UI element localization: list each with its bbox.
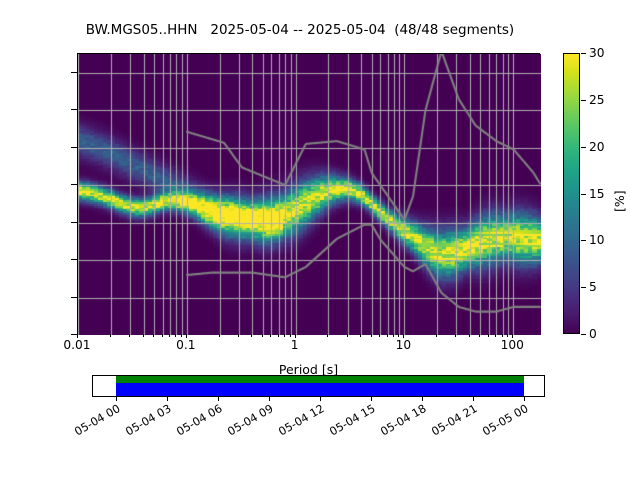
x-axis-tick-minor [502, 334, 503, 337]
x-axis-tick-minor [488, 334, 489, 337]
x-axis-tick-minor [371, 334, 372, 337]
x-axis-tick-minor [162, 334, 163, 337]
timeline-tick-label: 05-04 03 [116, 402, 173, 442]
ppsd-figure: BW.MGS05..HHN 2025-05-04 -- 2025-05-04 (… [0, 0, 640, 480]
timeline-tick [320, 397, 321, 401]
timeline-tick-label: 05-04 21 [423, 402, 480, 442]
colorbar-gradient [564, 54, 579, 333]
timeline-tick-label: 05-04 00 [65, 402, 122, 442]
colorbar-tick [581, 194, 586, 195]
x-axis-tick-minor [507, 334, 508, 337]
colorbar-tick [581, 53, 586, 54]
x-axis-tick-minor [181, 334, 182, 337]
x-axis-tick-minor [327, 334, 328, 337]
y-axis-tick [71, 297, 77, 298]
x-axis-tick-minor [262, 334, 263, 337]
y-axis-tick [71, 222, 77, 223]
timeline-bar-coverage [116, 376, 524, 383]
x-axis-tick-minor [393, 334, 394, 337]
colorbar-label: [%] [612, 190, 627, 212]
noise-model-curves [78, 54, 541, 335]
x-axis-tick-minor [110, 334, 111, 337]
x-axis-tick-minor [469, 334, 470, 337]
colorbar-tick-label: 10 [589, 233, 605, 247]
y-axis-tick [71, 259, 77, 260]
x-axis-tick-minor [387, 334, 388, 337]
x-axis-tick-minor [495, 334, 496, 337]
x-axis-tick-minor [347, 334, 348, 337]
colorbar-tick [581, 287, 586, 288]
colorbar[interactable] [563, 53, 580, 334]
y-axis-tick [71, 147, 77, 148]
timeline-tick-label: 05-05 00 [474, 402, 531, 442]
colorbar-tick-label: 30 [589, 46, 605, 60]
colorbar-tick-label: 15 [589, 187, 605, 201]
x-axis-tick-minor [360, 334, 361, 337]
x-axis-tick-minor [455, 334, 456, 337]
x-axis-tick-label: 1 [291, 338, 299, 352]
x-axis-tick-minor [278, 334, 279, 337]
timeline-tick [116, 397, 117, 401]
x-axis-tick-label: 100 [501, 338, 524, 352]
x-axis-tick-minor [175, 334, 176, 337]
timeline-tick [473, 397, 474, 401]
x-axis-tick-minor [398, 334, 399, 337]
timeline-tick-label: 05-04 15 [321, 402, 378, 442]
ppsd-histogram-axes[interactable] [77, 53, 540, 334]
x-axis-tick-minor [284, 334, 285, 337]
timeline-tick-label: 05-04 18 [372, 402, 429, 442]
colorbar-tick-label: 20 [589, 140, 605, 154]
x-axis-tick-minor [270, 334, 271, 337]
x-axis-tick-minor [290, 334, 291, 337]
y-axis-tick [71, 109, 77, 110]
x-axis-tick-minor [169, 334, 170, 337]
x-axis-tick-minor [143, 334, 144, 337]
x-axis-tick-label: 0.1 [176, 338, 195, 352]
x-axis-tick-minor [219, 334, 220, 337]
x-axis-tick-minor [129, 334, 130, 337]
page-title: BW.MGS05..HHN 2025-05-04 -- 2025-05-04 (… [0, 22, 600, 38]
y-axis-tick [71, 184, 77, 185]
timeline-tick [269, 397, 270, 401]
x-axis-tick-label: 10 [396, 338, 412, 352]
colorbar-tick [581, 334, 586, 335]
x-axis-tick-minor [153, 334, 154, 337]
timeline-tick [167, 397, 168, 401]
x-axis-tick-minor [479, 334, 480, 337]
colorbar-tick [581, 100, 586, 101]
colorbar-tick-label: 5 [589, 280, 597, 294]
x-axis-tick-label: 0.01 [63, 338, 90, 352]
y-axis-tick [71, 72, 77, 73]
timeline-tick-label: 05-04 09 [218, 402, 275, 442]
timeline-tick [218, 397, 219, 401]
timeline-tick-label: 05-04 06 [167, 402, 224, 442]
data-coverage-timeline[interactable] [92, 375, 545, 397]
colorbar-tick-label: 0 [589, 327, 597, 341]
timeline-bar-data [116, 383, 524, 396]
x-axis-tick-minor [379, 334, 380, 337]
colorbar-tick [581, 147, 586, 148]
x-axis-tick-minor [238, 334, 239, 337]
timeline-tick [524, 397, 525, 401]
timeline-tick-label: 05-04 12 [270, 402, 327, 442]
colorbar-tick-label: 25 [589, 93, 605, 107]
timeline-tick [371, 397, 372, 401]
colorbar-tick [581, 240, 586, 241]
x-axis-tick-minor [251, 334, 252, 337]
timeline-tick [422, 397, 423, 401]
x-axis-tick-minor [436, 334, 437, 337]
